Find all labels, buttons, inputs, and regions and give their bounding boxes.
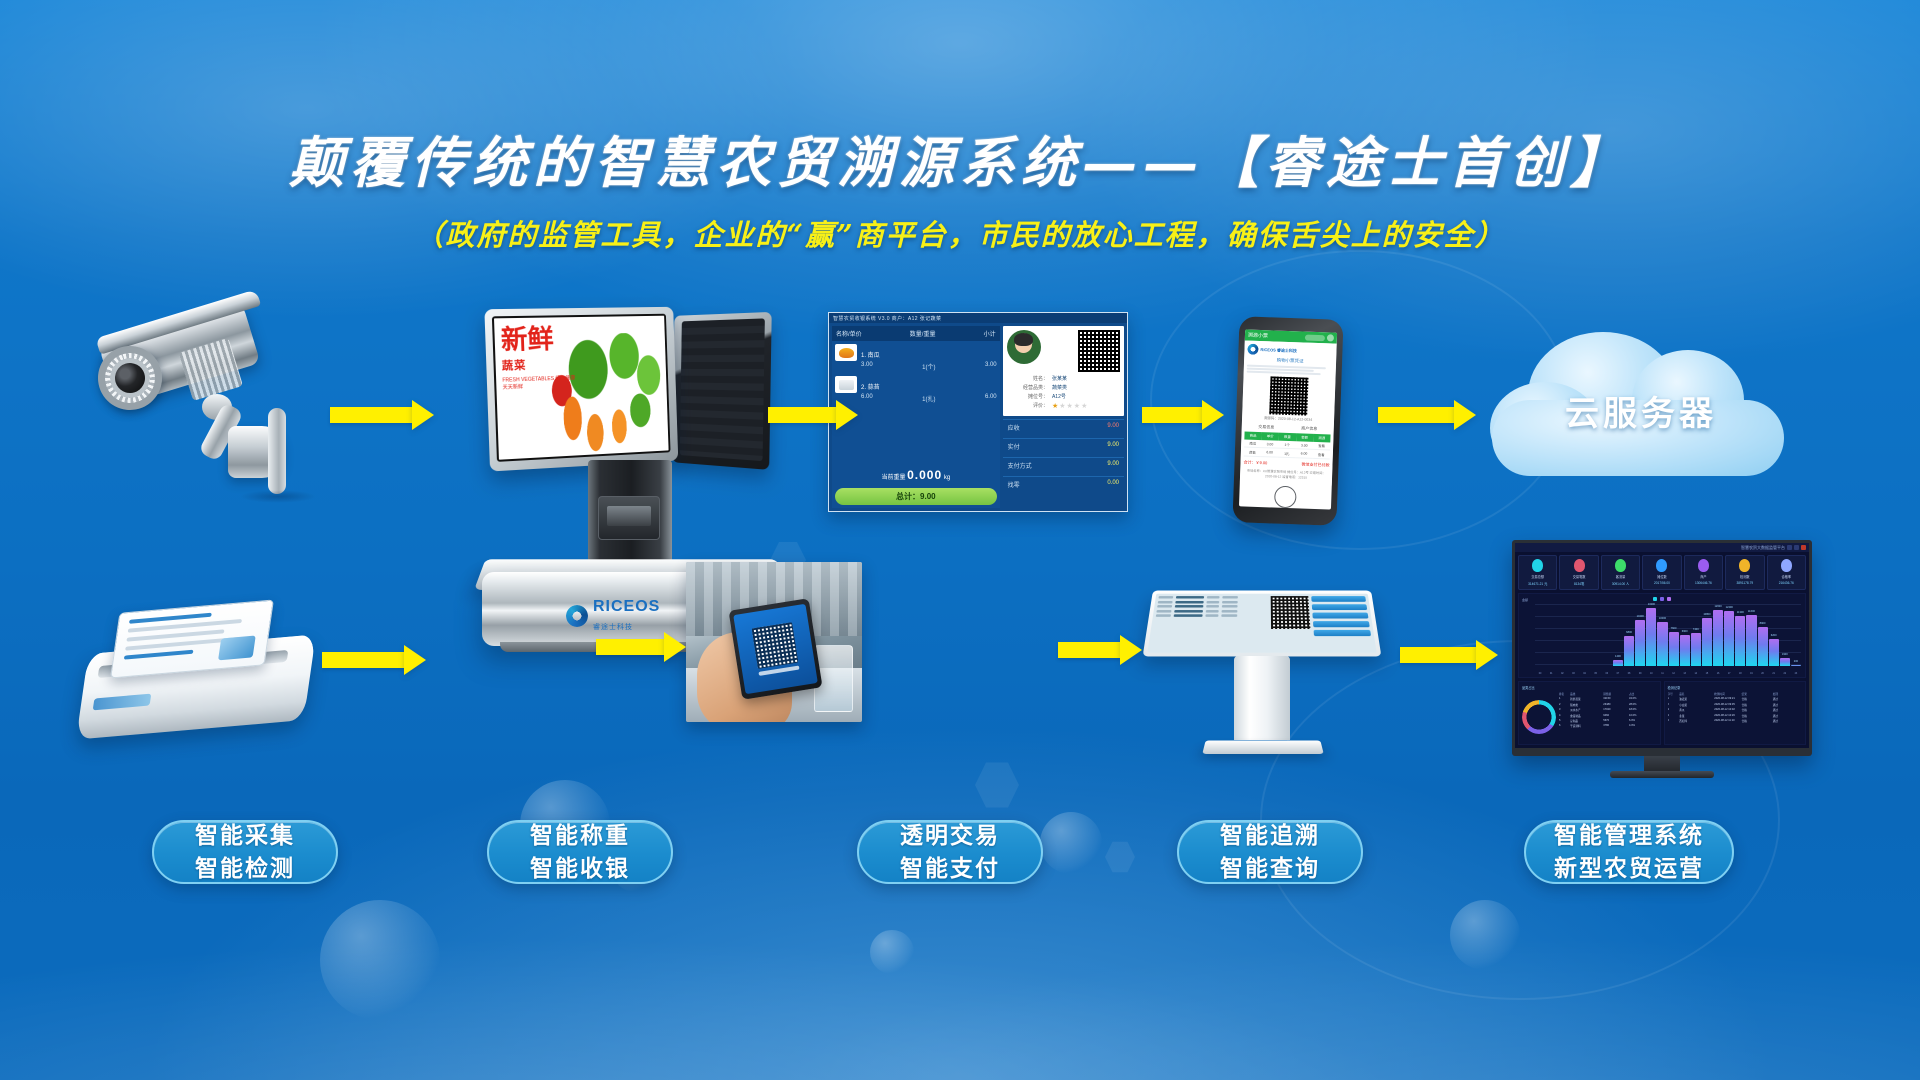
pill-line-2: 智能收银 [530,852,630,885]
flow-arrow-payment-to-kiosk [1058,635,1144,665]
table-header-row: 排名品类销售额占比 [1559,692,1657,696]
kiosk-button[interactable] [1312,604,1368,610]
table-cell: 32150 [1603,697,1627,701]
pos-software-screen: 智慧农贸收银系统 V3.0 商户：A12 张记蔬菜 名称/单价 数量/重量 小计… [828,312,1128,512]
item-subtotal: 3.00 [985,362,997,371]
table-cell: 小白菜 [1679,703,1712,707]
category-donut-chart [1522,700,1556,734]
chart-legend [1653,597,1671,601]
table-cell: 10.0% [1629,714,1656,718]
infographic-canvas: 颠覆传统的智慧农贸溯源系统——【睿途士首创】 （政府的监管工具，企业的“赢”商平… [0,0,1920,1080]
item-name: 2. 蒜苔 [861,385,880,391]
chart-xtick: 04 [1580,672,1590,675]
chart-bar: 10000 [1657,622,1667,666]
item-price: 3.00 [861,362,873,371]
chart-bars: 1400680010400132001000076006900740010800… [1535,604,1801,666]
chart-xtick: 00 [1535,672,1545,675]
pos-window-title: 智慧农贸收银系统 V3.0 商户：A12 张记蔬菜 [829,313,1127,323]
table-cell: 2020-08-12 09:35 [1714,703,1739,707]
chart-bar: 10800 [1702,618,1712,666]
kpi-card[interactable]: 客流量 30914.00 人 [1601,555,1640,590]
table-cell: 猪肉类 [1570,703,1601,707]
table-cell: 通过 [1773,703,1802,707]
total-button[interactable]: 总计： 9.00 [835,488,997,505]
chart-xtick: 22 [1780,672,1790,675]
pill-line-2: 智能支付 [900,852,1000,885]
wave-decoration [0,860,1920,1080]
chart-bar: 6200 [1769,639,1779,666]
table-cell: 通过 [1773,708,1802,712]
receipt-total: 合计：￥9.00 [1243,459,1267,466]
change-row: 找零 0.00 [1003,476,1124,492]
chart-xtick: 11 [1657,672,1667,675]
table-cell: 17020 [1603,708,1627,712]
bubble-decoration [1450,900,1520,970]
hex-decoration [975,760,1019,810]
label-pill-capture[interactable]: 智能采集 智能检测 [152,820,338,884]
kpi-card[interactable]: 商户 1306446.76 [1684,555,1723,590]
total-label: 总计： [896,491,920,502]
chart-xtick: 13 [1680,672,1690,675]
pos-ad-display: 新鲜 蔬菜 FRESH VEGETABLES 绿色健康 天天新鲜 [484,307,678,472]
table-cell: 禽蛋制品 [1570,714,1601,718]
table-cell: 2020-08-12 10:26 [1714,714,1739,718]
table-cell: 5 [1668,719,1678,723]
item-thumbnail [835,376,857,393]
table-cell: 34.0% [1629,697,1656,701]
table-cell: 4.0% [1629,724,1656,728]
item-price: 6.00 [861,394,873,403]
pill-line-2: 智能检测 [195,852,295,885]
item-qty: 1(扎) [922,394,935,403]
label-pill-management[interactable]: 智能管理系统 新型农贸运营 [1524,820,1734,884]
cctv-camera-icon [90,330,320,510]
chart-xtick: 12 [1669,672,1679,675]
phone-brand: RICEOS 睿途士科技 [1247,344,1333,358]
table-row[interactable]: 5豆制品56706.0% [1559,719,1657,723]
item-subtotal: 6.00 [985,394,997,403]
receipt-printer-slot [598,496,660,540]
pill-line-2: 新型农贸运营 [1554,852,1704,885]
table-row[interactable]: 2小白菜2020-08-12 09:35合格通过 [1668,703,1803,707]
column-header: 占比 [1629,692,1656,696]
table-cell: 新鲜蔬菜 [1570,697,1601,701]
pos-ad-headline: 新鲜 [501,327,575,354]
more-icon[interactable] [1305,334,1325,341]
vendor-field: 经营品类：蔬菜类 [1007,384,1120,391]
table-cell: 6 [1559,724,1568,728]
brand-name-cn: 睿途士科技 [593,624,633,631]
chart-bar: 11300 [1735,616,1745,666]
table-cell: 通过 [1773,719,1802,723]
chart-xtick: 09 [1635,672,1645,675]
chart-xtick: 10 [1646,672,1656,675]
vendor-field: 姓名：张某某 [1007,375,1120,382]
flow-arrow-kiosk-to-dashboard [1400,640,1500,670]
table-row[interactable]: 4禽蛋制品946010.0% [1559,714,1657,718]
inspection-records-panel: 检测记录 序号品名检测时间结果处理1油麦菜2020-08-12 09:21合格通… [1664,681,1807,745]
flow-arrow-phone-to-cloud [1378,400,1478,430]
chart-xtick: 20 [1758,672,1768,675]
column-header: 序号 [1668,692,1678,696]
item-qty: 1(个) [922,362,935,371]
column-header: 检测时间 [1714,692,1739,696]
kpi-card[interactable]: 合格率 216436.76 [1767,555,1806,590]
page-title: 颠覆传统的智慧农贸溯源系统——【睿途士首创】 [0,118,1920,198]
item-thumbnail [835,344,857,361]
chart-bar: 200 [1791,665,1801,666]
flow-arrow-software-to-phone [1142,400,1226,430]
table-cell: 28.0% [1629,703,1656,707]
chart-bar: 1400 [1613,660,1623,666]
chart-xtick: 17 [1724,672,1734,675]
table-cell: 9460 [1603,714,1627,718]
close-icon[interactable] [1327,334,1334,341]
label-pill-traceability[interactable]: 智能追溯 智能查询 [1177,820,1363,884]
hex-decoration [1105,840,1135,874]
table-cell: 1 [1559,697,1568,701]
chart-bar: 7600 [1669,632,1679,666]
weight-value: 0.000 [907,468,942,482]
column-header: 品类 [1570,692,1601,696]
table-row[interactable]: 5西红柿2020-08-12 11:10合格通过 [1668,719,1803,723]
chart-bar: 13200 [1646,608,1656,666]
column-header: 排名 [1559,692,1568,696]
transaction-bar-chart: 金额 1400680010400132001000076006900740010… [1518,593,1806,678]
tab-merchant[interactable]: 商户信息 [1301,425,1317,432]
panel-title: 品类占比 [1522,685,1657,690]
table-cell: 5670 [1603,719,1627,723]
home-button-icon[interactable] [1274,486,1297,509]
table-row: 蒜苔 6.00 1扎 6.00 查看 [1244,447,1330,458]
table-cell: 1 [1668,697,1678,701]
pill-line-1: 智能追溯 [1220,819,1320,852]
table-cell: 2020-08-12 11:10 [1714,719,1739,723]
table-cell: 26480 [1603,703,1627,707]
chart-xtick: 07 [1613,672,1623,675]
column-header: 处理 [1773,692,1802,696]
column-header: 销售额 [1603,692,1627,696]
dashboard-window-title: 智慧农贸大数据监管平台 [1741,545,1785,551]
table-cell: 5 [1559,719,1568,723]
riceos-logo: RICEOS 睿途士科技 [566,598,660,634]
kiosk-qr-icon[interactable] [1270,596,1310,629]
bubble-decoration [320,900,440,1020]
chart-xtick: 23 [1791,672,1801,675]
vendor-info-card: 姓名：张某某 经营品类：蔬菜类 摊位号：A12号 评价： ★★★★★ [1003,326,1124,416]
brand-name: RICEOS [593,598,660,615]
table-cell: 干货调料 [1570,724,1601,728]
records-table: 序号品名检测时间结果处理1油麦菜2020-08-12 09:21合格通过2小白菜… [1668,692,1803,741]
kiosk-button[interactable] [1313,621,1370,627]
chart-bar: 7400 [1691,633,1701,666]
bubble-decoration [870,930,914,974]
chart-bar: 11600 [1746,615,1756,666]
kpi-card[interactable]: 检测数 3891178.79 [1725,555,1764,590]
table-cell: 通过 [1773,697,1802,701]
total-value: 9.00 [920,492,936,501]
table-cell: 4 [1668,714,1678,718]
brand-label: RICEOS 睿途士科技 [1260,346,1297,353]
dashboard-titlebar: 智慧农贸大数据监管平台 [1515,543,1809,552]
chart-xtick: 02 [1557,672,1567,675]
vendor-avatar [1007,330,1041,364]
card-reader-icon [78,600,314,750]
phone-header-title: 溯源小票 [1248,332,1268,340]
table-cell: 西红柿 [1679,719,1712,723]
kiosk-button[interactable] [1312,613,1368,619]
table-row[interactable]: 1新鲜蔬菜3215034.0% [1559,697,1657,701]
vendor-field: 摊位号：A12号 [1007,393,1120,400]
amount-due-row: 应收 9.00 [1003,419,1124,435]
table-cell: 合格 [1742,697,1771,701]
table-row[interactable]: 3黄瓜2020-08-12 10:02合格通过 [1668,708,1803,712]
label-pill-weighing[interactable]: 智能称重 智能收银 [487,820,673,884]
table-cell: 淡水水产 [1570,708,1601,712]
kpi-card[interactable]: 交易总额 314671.21 元 [1518,555,1557,590]
column-header: 数量/重量 [910,329,936,338]
cloud-icon: 云服务器 [1486,326,1796,490]
column-header: 品名 [1679,692,1712,696]
chart-xtick: 19 [1746,672,1756,675]
dashboard-monitor: 智慧农贸大数据监管平台 交易总额 314671.21 元 交易笔数 8134笔 … [1512,540,1812,756]
table-cell: 3 [1559,708,1568,712]
table-cell: 合格 [1742,714,1771,718]
chart-xtick: 05 [1591,672,1601,675]
table-cell: 2020-08-12 10:02 [1714,708,1739,712]
amount-paid-row: 实付 9.00 [1003,438,1124,454]
flow-arrow-detector-to-scale [322,645,426,675]
riceos-mark-icon [566,605,588,627]
item-name: 1. 南瓜 [861,353,880,359]
cloud-server-label: 云服务器 [1486,386,1796,435]
chart-xtick: 01 [1546,672,1556,675]
chart-xtick: 14 [1691,672,1701,675]
table-header-row: 序号品名检测时间结果处理 [1668,692,1803,696]
header-block: 颠覆传统的智慧农贸溯源系统——【睿途士首创】 （政府的监管工具，企业的“赢”商平… [0,118,1920,254]
cart-item-row[interactable]: 2. 蒜苔 6.00 1(扎) 6.00 [835,376,997,403]
kiosk-button[interactable] [1311,596,1366,602]
kiosk-button[interactable] [1313,630,1371,636]
panel-title: 检测记录 [1668,685,1803,690]
flow-arrow-camera-to-pos [330,400,434,430]
chart-bar: 6900 [1680,635,1690,666]
qr-caption: 溯源码：2020-08-12-A12-0034 [1245,415,1331,423]
chart-xtick: 16 [1713,672,1723,675]
label-pill-transaction[interactable]: 透明交易 智能支付 [857,820,1043,884]
close-icon[interactable] [1801,545,1806,550]
table-cell: 黄瓜 [1679,708,1712,712]
receipt-note: 市场名称：XX智慧农贸市场 摊位号：A12号 交易时间：2020-08-12 监… [1243,468,1329,482]
table-cell: 6.0% [1629,719,1656,723]
pos-customer-display [672,312,772,470]
table-cell: 韭菜 [1679,714,1712,718]
traceability-qr-icon[interactable] [1078,330,1120,372]
table-cell: 2 [1559,703,1568,707]
chart-bar: 12600 [1713,610,1723,666]
cart-item-row[interactable]: 1. 南瓜 3.00 1(个) 3.00 [835,344,997,371]
pill-line-1: 智能采集 [195,819,295,852]
tab-transaction[interactable]: 交易信息 [1258,424,1274,431]
kiosk-record-table [1151,596,1268,650]
table-cell: 合格 [1742,719,1771,723]
vendor-rating-row: 评价： ★★★★★ [1007,402,1120,410]
pos-item-columns: 名称/单价 数量/重量 小计 [832,326,1000,341]
column-header: 结果 [1742,692,1771,696]
category-table: 排名品类销售额占比1新鲜蔬菜3215034.0%2猪肉类2648028.0%3淡… [1559,692,1657,741]
chart-bar: 10400 [1635,620,1645,666]
table-cell: 合格 [1742,708,1771,712]
chart-xtick: 18 [1735,672,1745,675]
table-cell: 2 [1668,703,1678,707]
receipt-qr-icon[interactable] [1269,376,1308,415]
chart-ylabel: 金额 [1522,598,1528,602]
table-cell: 合格 [1742,703,1771,707]
chart-xtick: 15 [1702,672,1712,675]
pos-ad-subline: 蔬菜 [502,355,576,373]
table-cell: 油麦菜 [1679,697,1712,701]
chart-xaxis: 0001020304050607080910111213141516171819… [1535,672,1801,675]
table-cell: 通过 [1773,714,1802,718]
table-cell: 18.0% [1629,708,1656,712]
table-cell: 2020-08-12 09:21 [1714,697,1739,701]
kpi-card[interactable]: 摊位数 2017/56.00 [1642,555,1681,590]
flow-arrow-scale-to-payment [596,632,688,662]
table-cell: 3 [1668,708,1678,712]
table-row[interactable]: 1油麦菜2020-08-12 09:21合格通过 [1668,697,1803,701]
payment-status: 微信支付已付款 [1301,461,1329,468]
table-cell: 4 [1559,714,1568,718]
chart-bar: 1900 [1780,658,1790,666]
smartphone-receipt: 溯源小票 RICEOS 睿途士科技 购物小票凭证 溯源码：2020-08-12-… [1228,318,1356,528]
chart-bar: 12400 [1724,611,1734,666]
payment-method-row: 支付方式 9.00 [1003,457,1124,473]
receipt-table: 商品 单价 数量 金额 溯源 南瓜 3.00 1个 3.00 查看 [1244,431,1331,459]
chart-bar: 8900 [1758,627,1768,666]
kpi-card[interactable]: 交易笔数 8134笔 [1559,555,1598,590]
star-rating-icon: ★★★★★ [1052,402,1088,410]
pill-line-1: 智能管理系统 [1554,819,1704,852]
pos-ad-tagline: FRESH VEGETABLES 绿色健康 天天新鲜 [502,375,576,393]
table-row[interactable]: 4韭菜2020-08-12 10:26合格通过 [1668,714,1803,718]
table-cell: 3780 [1603,724,1627,728]
column-header: 名称/单价 [836,329,862,338]
table-row[interactable]: 3淡水水产1702018.0% [1559,708,1657,712]
pill-line-1: 智能称重 [530,819,630,852]
chart-xtick: 06 [1602,672,1612,675]
page-subtitle: （政府的监管工具，企业的“赢”商平台，市民的放心工程，确保舌尖上的安全） [0,212,1920,254]
column-header: 小计 [984,329,996,338]
payment-qr-icon [752,622,799,669]
chart-xtick: 03 [1568,672,1578,675]
weight-unit: kg [944,475,950,481]
table-row[interactable]: 6干货调料37804.0% [1559,724,1657,728]
chart-xtick: 21 [1769,672,1779,675]
chart-bar: 6800 [1624,636,1634,666]
touch-kiosk-icon [1148,578,1380,770]
mobile-scan-pay-icon [686,562,862,722]
bubble-decoration [1040,812,1102,874]
weight-label: 当前重量 [881,475,905,481]
table-cell: 豆制品 [1570,719,1601,723]
pill-line-1: 透明交易 [900,819,1000,852]
pill-line-2: 智能查询 [1220,852,1320,885]
table-row[interactable]: 2猪肉类2648028.0% [1559,703,1657,707]
riceos-mark-icon [1247,344,1258,355]
weight-readout: 当前重量 0.000 kg [832,464,1000,485]
chart-xtick: 08 [1624,672,1634,675]
flow-arrow-pos-to-software [768,400,860,430]
kpi-row: 交易总额 314671.21 元 交易笔数 8134笔 客流量 30914.00… [1515,552,1809,593]
category-share-panel: 品类占比 排名品类销售额占比1新鲜蔬菜3215034.0%2猪肉类2648028… [1518,681,1661,745]
